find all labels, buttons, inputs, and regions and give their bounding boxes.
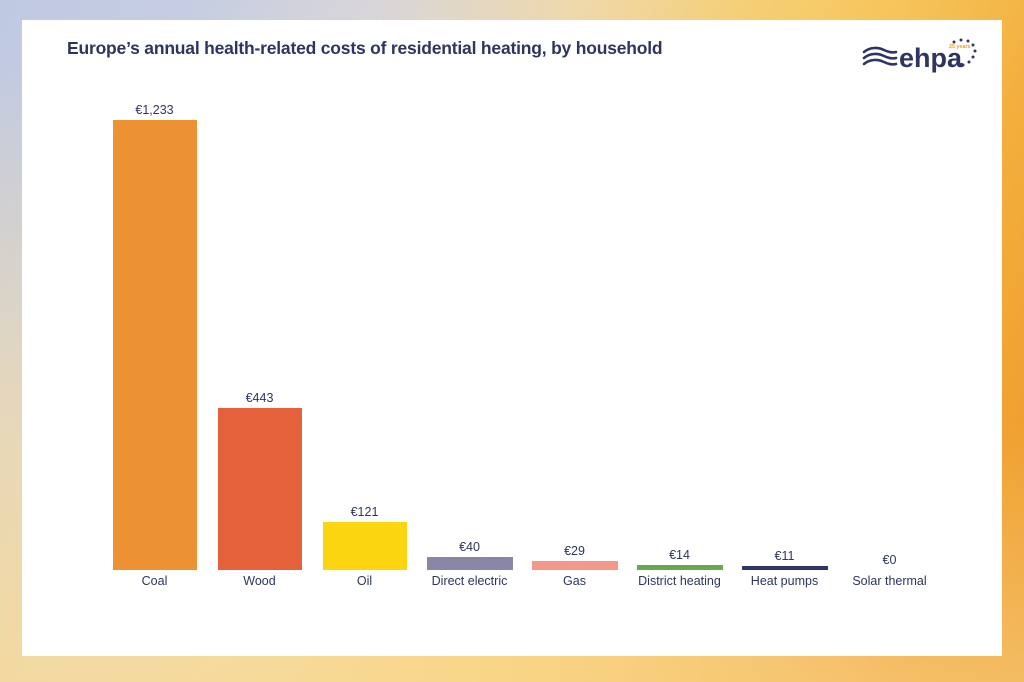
bar-category-label: Direct electric: [432, 575, 508, 588]
bar-value-label: €121: [351, 506, 379, 519]
bar-value-label: €40: [459, 541, 480, 554]
bar-category-label: Solar thermal: [852, 575, 926, 588]
bar-value-label: €14: [669, 549, 690, 562]
bar-group[interactable]: €14District heating: [627, 80, 732, 570]
bar-rect[interactable]: [113, 120, 197, 570]
bar-group[interactable]: €121Oil: [312, 80, 417, 570]
bar-group[interactable]: €29Gas: [522, 80, 627, 570]
page-title: Europe’s annual health-related costs of …: [67, 38, 662, 59]
logo-anniversary-badge: 25 years: [949, 44, 971, 50]
bar-rect[interactable]: [532, 561, 618, 570]
bar-group[interactable]: €11Heat pumps: [732, 80, 837, 570]
bar-series: €1,233Coal€443Wood€121Oil€40Direct elect…: [102, 80, 947, 570]
bar-group[interactable]: €1,233Coal: [102, 80, 207, 570]
bar-rect[interactable]: [218, 408, 302, 570]
chart-card: Europe’s annual health-related costs of …: [22, 20, 1002, 656]
bar-category-label: District heating: [638, 575, 721, 588]
bar-category-label: Wood: [243, 575, 275, 588]
bar-group[interactable]: €0Solar thermal: [837, 80, 942, 570]
bar-value-label: €1,233: [135, 104, 173, 117]
bar-rect[interactable]: [427, 557, 513, 570]
bar-rect[interactable]: [742, 566, 828, 570]
bar-category-label: Oil: [357, 575, 372, 588]
bar-rect[interactable]: [323, 522, 407, 570]
ehpa-logo: ehpa 25 years: [862, 34, 980, 82]
bar-category-label: Heat pumps: [751, 575, 818, 588]
bar-value-label: €443: [246, 392, 274, 405]
bar-value-label: €11: [775, 550, 795, 563]
bar-value-label: €29: [564, 545, 585, 558]
ehpa-logo-svg: ehpa 25 years: [862, 34, 980, 82]
wave-lines-icon: [864, 48, 896, 64]
bar-category-label: Gas: [563, 575, 586, 588]
bar-group[interactable]: €40Direct electric: [417, 80, 522, 570]
bar-rect[interactable]: [637, 565, 723, 570]
chart-plot-area: €1,233Coal€443Wood€121Oil€40Direct elect…: [67, 80, 982, 606]
poster-frame: Europe’s annual health-related costs of …: [0, 0, 1024, 682]
bar-value-label: €0: [883, 554, 897, 567]
bar-group[interactable]: €443Wood: [207, 80, 312, 570]
bar-category-label: Coal: [142, 575, 168, 588]
